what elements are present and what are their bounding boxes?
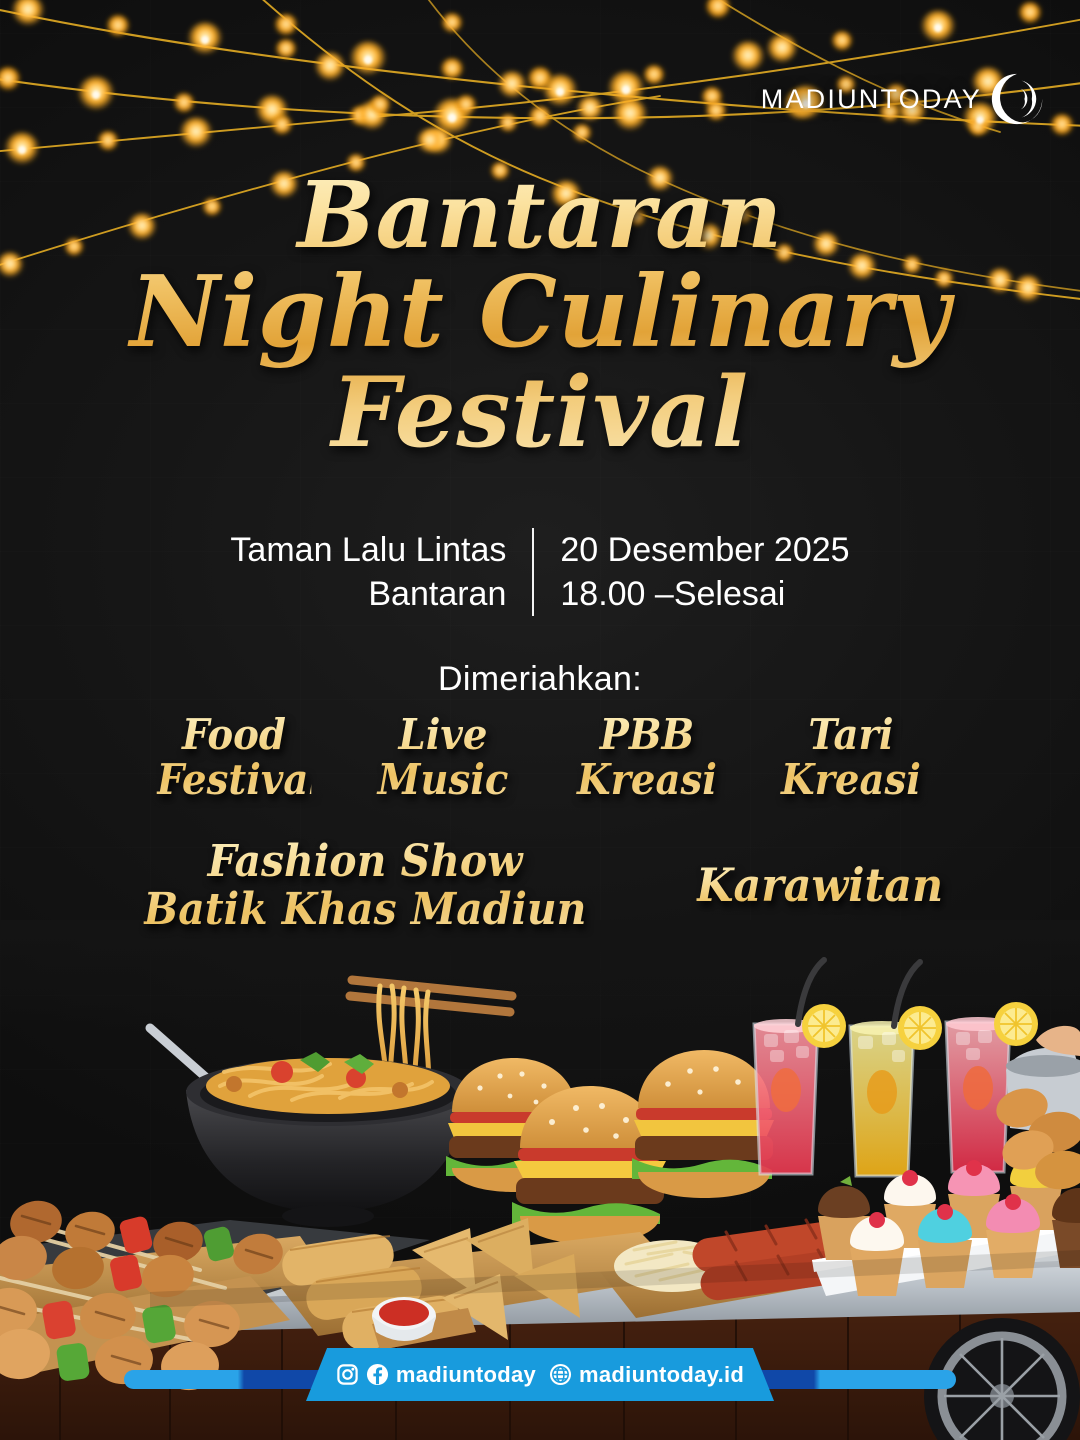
lineup-item-line-2: Music [370,757,515,802]
lineup-item-line-2: Kreasi [574,757,719,802]
lineup-label: Dimeriahkan: [0,660,1080,699]
facebook-icon[interactable] [366,1363,389,1386]
lineup-item-line-1: PBB [574,712,719,757]
title-line-2: Night Culinary [40,263,1040,364]
venue-line-1: Taman Lalu Lintas [230,528,506,572]
venue-block: Taman Lalu Lintas Bantaran [230,528,532,616]
lineup-item-line-2: Festival [157,757,312,802]
lineup-item-fashion-show: Fashion Show Batik Khas Madiun [144,838,587,933]
lineup-item-line-1: Food [157,712,312,757]
event-info: Taman Lalu Lintas Bantaran 20 Desember 2… [0,528,1080,616]
instagram-icon[interactable] [336,1363,359,1386]
info-divider [532,528,534,616]
lineup-item-live-music: Live Music [370,712,515,803]
footer-band: madiuntoday madiuntoday.id [306,1348,774,1401]
social-handle-group[interactable]: madiuntoday [336,1362,536,1388]
event-date: 20 Desember 2025 [560,528,849,572]
lineup-item-karawitan: Karawitan [697,861,944,911]
brand-logo: MADIUNTODAY [761,62,1054,136]
lineup-item-line-1: Live [370,712,515,757]
website-label[interactable]: madiuntoday.id [579,1362,744,1388]
footer-social-bar: madiuntoday madiuntoday.id [0,1348,1080,1440]
event-time: 18.00 –Selesai [560,572,849,616]
wave-crescent-icon [980,62,1054,136]
lineup-item-line-1: Tari [778,712,923,757]
lineup-item-tari-kreasi: Tari Kreasi [778,712,923,803]
globe-icon[interactable] [549,1363,572,1386]
lineup-item-food-festival: Food Festival [157,712,312,803]
lineup-item-line-2: Batik Khas Madiun [144,886,587,934]
title-line-3: Festival [40,364,1040,463]
brand-logo-text: MADIUNTODAY [761,84,982,115]
lineup-item-pbb-kreasi: PBB Kreasi [574,712,719,803]
poster-canvas: MADIUNTODAY Bantaran Night Culinary Fest… [0,0,1080,1440]
lineup-item-line-1: Fashion Show [144,838,587,886]
lineup-row-secondary: Fashion Show Batik Khas Madiun Karawitan [0,838,1080,933]
social-handle-label[interactable]: madiuntoday [396,1362,536,1388]
website-group[interactable]: madiuntoday.id [549,1362,744,1388]
burgers [446,1050,774,1244]
lineup-item-line-2: Kreasi [778,757,923,802]
venue-line-2: Bantaran [230,572,506,616]
title-line-1: Bantaran [40,168,1040,263]
page-title: Bantaran Night Culinary Festival [0,168,1080,463]
datetime-block: 20 Desember 2025 18.00 –Selesai [534,528,849,616]
lineup-row-primary: Food Festival Live Music PBB Kreasi Tari… [0,712,1080,803]
